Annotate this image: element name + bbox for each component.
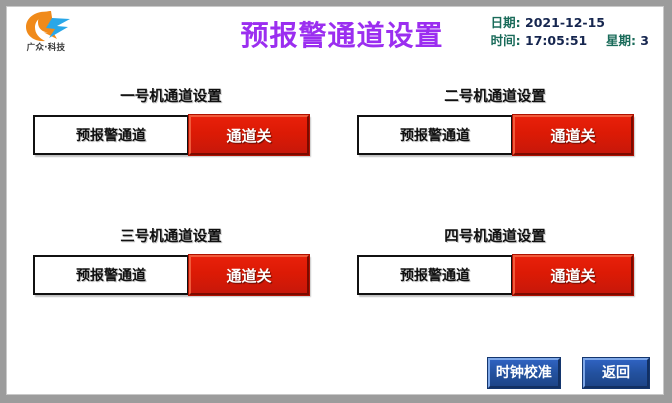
channel-panel-1-state-button[interactable]: 通道关 <box>189 115 309 155</box>
channel-panel-4-state-button[interactable]: 通道关 <box>513 255 633 295</box>
channel-panel-4: 四号机通道设置 预报警通道 通道关 <box>357 225 633 297</box>
channel-panel-1-title: 一号机通道设置 <box>33 85 309 106</box>
time-label: 时间: <box>491 33 521 48</box>
channel-panel-2-label: 预报警通道 <box>357 115 513 155</box>
channel-panel-1-row: 预报警通道 通道关 <box>33 115 309 155</box>
time-row: 时间: 17:05:51 星期: 3 <box>491 32 649 50</box>
app-canvas: 广众·科技 预报警通道设置 日期: 2021-12-15 时间: 17:05:5… <box>6 6 664 395</box>
date-label: 日期: <box>491 15 521 30</box>
page-title: 预报警通道设置 <box>157 14 527 54</box>
channel-panel-1-label: 预报警通道 <box>33 115 189 155</box>
date-value: 2021-12-15 <box>525 15 605 30</box>
channel-panel-1: 一号机通道设置 预报警通道 通道关 <box>33 85 309 157</box>
header-bar: 广众·科技 预报警通道设置 日期: 2021-12-15 时间: 17:05:5… <box>7 7 663 65</box>
weekday-label: 星期: <box>606 33 636 48</box>
weekday-value: 3 <box>640 33 649 48</box>
channel-panel-4-title: 四号机通道设置 <box>357 225 633 246</box>
channel-panel-3-state-button[interactable]: 通道关 <box>189 255 309 295</box>
channel-panel-3: 三号机通道设置 预报警通道 通道关 <box>33 225 309 297</box>
app-window-frame: 广众·科技 预报警通道设置 日期: 2021-12-15 时间: 17:05:5… <box>0 0 672 403</box>
time-value: 17:05:51 <box>525 33 587 48</box>
date-row: 日期: 2021-12-15 <box>491 14 649 32</box>
channel-panel-2-title: 二号机通道设置 <box>357 85 633 106</box>
channel-panel-2-state-button[interactable]: 通道关 <box>513 115 633 155</box>
channel-panel-3-title: 三号机通道设置 <box>33 225 309 246</box>
channel-panel-4-row: 预报警通道 通道关 <box>357 255 633 295</box>
channel-panel-2-row: 预报警通道 通道关 <box>357 115 633 155</box>
channel-panel-3-label: 预报警通道 <box>33 255 189 295</box>
back-button[interactable]: 返回 <box>583 358 649 388</box>
channel-panel-3-row: 预报警通道 通道关 <box>33 255 309 295</box>
brand-logo-text: 广众·科技 <box>12 41 80 53</box>
footer-button-bar: 时钟校准 返回 <box>488 358 649 388</box>
datetime-display: 日期: 2021-12-15 时间: 17:05:51 星期: 3 <box>491 14 649 50</box>
company-logo-icon <box>22 9 72 43</box>
brand-logo: 广众·科技 <box>12 9 80 61</box>
clock-calibration-button[interactable]: 时钟校准 <box>488 358 560 388</box>
channel-panel-4-label: 预报警通道 <box>357 255 513 295</box>
channel-panel-2: 二号机通道设置 预报警通道 通道关 <box>357 85 633 157</box>
